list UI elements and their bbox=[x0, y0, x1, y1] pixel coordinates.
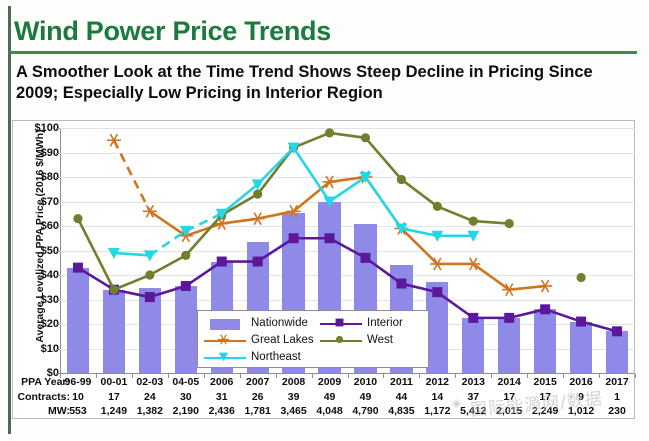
table-cell: 1,382 bbox=[137, 404, 163, 418]
table-cell: 1,172 bbox=[424, 404, 450, 418]
table-cell: 39 bbox=[288, 390, 300, 404]
line-segment-interior bbox=[365, 258, 401, 284]
marker-great-lakes bbox=[538, 280, 552, 292]
line-segment-northeast bbox=[365, 177, 401, 228]
line-segment-west bbox=[294, 133, 330, 148]
line-segment-interior bbox=[437, 292, 473, 318]
legend-key-icon bbox=[320, 335, 362, 347]
table-row-label: Contracts: bbox=[12, 390, 70, 404]
slide-subtitle: A Smoother Look at the Time Trend Shows … bbox=[16, 62, 636, 104]
marker-interior bbox=[360, 253, 370, 263]
marker-interior bbox=[217, 257, 227, 267]
line-segment-west bbox=[150, 255, 186, 275]
line-segment-west bbox=[222, 194, 258, 215]
legend-label: Interior bbox=[367, 317, 403, 329]
line-segment-northeast bbox=[150, 231, 186, 256]
marker-west bbox=[361, 133, 370, 142]
table-cell: 14 bbox=[432, 390, 444, 404]
watermark-mark: ◈ bbox=[452, 396, 461, 410]
line-segment-interior bbox=[401, 284, 437, 293]
legend-marker-glyph bbox=[219, 352, 228, 361]
table-cell: 2011 bbox=[390, 375, 413, 389]
table-cell: 44 bbox=[396, 390, 408, 404]
marker-interior bbox=[73, 263, 83, 273]
legend-item-great-lakes[interactable]: Great Lakes bbox=[204, 332, 314, 349]
line-segment-great-lakes bbox=[114, 140, 150, 211]
marker-interior bbox=[181, 281, 191, 291]
marker-west bbox=[109, 285, 118, 294]
table-cell: 96-99 bbox=[65, 375, 92, 389]
table-cell: 2008 bbox=[282, 375, 305, 389]
legend-label: West bbox=[367, 334, 393, 346]
table-cell: 4,048 bbox=[316, 404, 342, 418]
line-segment-northeast bbox=[114, 253, 150, 255]
table-cell: 2012 bbox=[426, 375, 449, 389]
line-segment-west bbox=[330, 133, 366, 138]
marker-west bbox=[145, 270, 154, 279]
line-segment-interior bbox=[258, 238, 294, 261]
marker-interior bbox=[540, 304, 550, 314]
marker-interior bbox=[289, 233, 299, 243]
line-segment-northeast bbox=[294, 148, 330, 202]
table-cell: 3,465 bbox=[280, 404, 306, 418]
table-cell: 49 bbox=[360, 390, 372, 404]
marker-west bbox=[433, 202, 442, 211]
marker-interior bbox=[432, 287, 442, 297]
marker-interior bbox=[325, 233, 335, 243]
table-cell: 04-05 bbox=[172, 375, 199, 389]
marker-west bbox=[325, 128, 334, 137]
table-cell: 230 bbox=[608, 404, 626, 418]
marker-west bbox=[469, 217, 478, 226]
legend-key-icon bbox=[204, 352, 246, 364]
table-cell: 17 bbox=[108, 390, 120, 404]
legend-marker-glyph bbox=[336, 335, 343, 342]
table-cell: 2010 bbox=[354, 375, 377, 389]
marker-northeast bbox=[324, 197, 336, 208]
line-segment-west bbox=[114, 275, 150, 290]
line-segment-interior bbox=[114, 290, 150, 297]
legend-swatch bbox=[210, 319, 240, 330]
marker-interior bbox=[504, 313, 514, 323]
table-cell: 02-03 bbox=[136, 375, 163, 389]
table-row-label: PPA Year: bbox=[12, 375, 70, 389]
chart-legend: NationwideInteriorGreat LakesWestNorthea… bbox=[197, 310, 429, 368]
line-segment-west bbox=[401, 179, 437, 206]
marker-interior bbox=[145, 292, 155, 302]
marker-west bbox=[576, 273, 585, 282]
table-row-label: MW: bbox=[12, 404, 70, 418]
legend-item-northeast[interactable]: Northeast bbox=[204, 349, 301, 366]
table-cell: 2,190 bbox=[173, 404, 199, 418]
line-segment-northeast bbox=[258, 148, 294, 185]
legend-key-icon bbox=[204, 318, 246, 330]
line-segment-west bbox=[365, 138, 401, 180]
table-cell: 553 bbox=[69, 404, 87, 418]
table-cell: 2006 bbox=[210, 375, 233, 389]
table-cell: 24 bbox=[144, 390, 156, 404]
table-cell: 2009 bbox=[318, 375, 341, 389]
legend-marker-circle-icon bbox=[334, 334, 345, 345]
line-segment-interior bbox=[509, 309, 545, 318]
legend-item-nationwide[interactable]: Nationwide bbox=[204, 315, 308, 332]
line-segment-west bbox=[437, 206, 473, 221]
line-segment-great-lakes bbox=[258, 211, 294, 218]
table-cell: 1,249 bbox=[101, 404, 127, 418]
table-cell: 31 bbox=[216, 390, 228, 404]
marker-interior bbox=[612, 326, 622, 336]
marker-west bbox=[505, 219, 514, 228]
table-row: PPA Year:96-9900-0102-0304-0520062007200… bbox=[12, 375, 649, 389]
table-cell: 2007 bbox=[246, 375, 269, 389]
legend-label: Northeast bbox=[251, 351, 301, 363]
marker-great-lakes bbox=[107, 134, 121, 146]
table-cell: 49 bbox=[324, 390, 336, 404]
table-cell: 2015 bbox=[533, 375, 556, 389]
line-segment-interior bbox=[186, 262, 222, 287]
marker-interior bbox=[396, 279, 406, 289]
table-cell: 26 bbox=[252, 390, 264, 404]
marker-great-lakes bbox=[251, 213, 265, 225]
line-segment-west bbox=[473, 221, 509, 223]
legend-key-icon bbox=[204, 335, 246, 347]
table-cell: 4,835 bbox=[388, 404, 414, 418]
legend-marker-glyph bbox=[218, 334, 229, 344]
table-cell: 10 bbox=[72, 390, 84, 404]
legend-key-icon bbox=[320, 318, 362, 330]
legend-label: Great Lakes bbox=[251, 334, 314, 346]
legend-item-west[interactable]: West bbox=[320, 332, 393, 349]
legend-label: Nationwide bbox=[251, 317, 308, 329]
table-cell: 1,781 bbox=[245, 404, 271, 418]
legend-marker-glyph bbox=[336, 318, 344, 326]
table-cell: 00-01 bbox=[100, 375, 127, 389]
table-cell: 30 bbox=[180, 390, 192, 404]
line-segment-interior bbox=[330, 238, 366, 258]
marker-interior bbox=[253, 257, 263, 267]
marker-west bbox=[253, 190, 262, 199]
page-title: Wind Power Price Trends bbox=[14, 16, 331, 47]
line-segment-interior bbox=[581, 322, 617, 332]
line-segment-interior bbox=[150, 286, 186, 297]
marker-interior bbox=[468, 313, 478, 323]
marker-west bbox=[397, 175, 406, 184]
legend-marker-triangle-icon bbox=[218, 351, 229, 362]
marker-west bbox=[181, 251, 190, 260]
legend-marker-square-icon bbox=[334, 317, 345, 328]
marker-interior bbox=[576, 317, 586, 327]
legend-item-interior[interactable]: Interior bbox=[320, 315, 403, 332]
table-cell: 1 bbox=[614, 390, 620, 404]
table-cell: 4,790 bbox=[352, 404, 378, 418]
line-segment-great-lakes bbox=[473, 264, 509, 290]
title-divider bbox=[9, 51, 637, 54]
table-cell: 2013 bbox=[462, 375, 485, 389]
table-cell: 2017 bbox=[605, 375, 628, 389]
table-cell: 2,436 bbox=[209, 404, 235, 418]
line-segment-interior bbox=[545, 309, 581, 321]
legend-marker-asterisk-icon bbox=[218, 334, 229, 345]
line-segment-great-lakes bbox=[150, 211, 186, 236]
table-cell: 2014 bbox=[498, 375, 521, 389]
marker-west bbox=[73, 214, 82, 223]
